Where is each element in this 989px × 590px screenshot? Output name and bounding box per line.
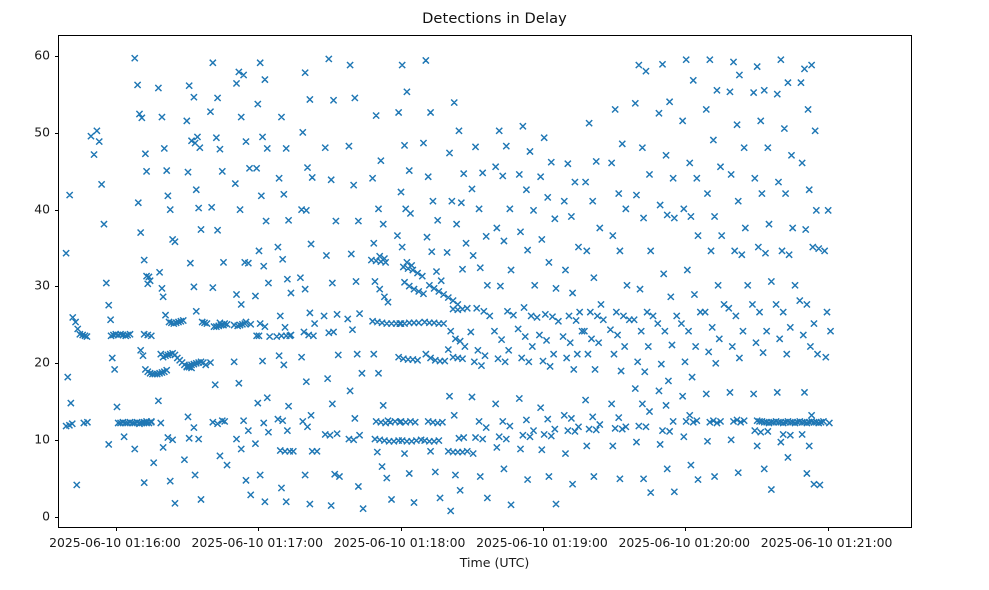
- y-tick-label: 30: [0, 278, 50, 293]
- x-tick-label: 2025-06-10 01:16:00: [49, 535, 181, 550]
- x-tick-mark: [543, 527, 544, 531]
- x-tick-mark: [258, 527, 259, 531]
- y-tick-label: 50: [0, 124, 50, 139]
- y-tick-label: 10: [0, 431, 50, 446]
- y-tick-mark: [55, 517, 59, 518]
- x-tick-label: 2025-06-10 01:19:00: [476, 535, 608, 550]
- y-tick-label: 40: [0, 201, 50, 216]
- y-tick-mark: [55, 133, 59, 134]
- x-tick-label: 2025-06-10 01:18:00: [334, 535, 466, 550]
- x-tick-mark: [401, 527, 402, 531]
- scatter-points-layer: [59, 36, 911, 527]
- y-tick-label: 0: [0, 508, 50, 523]
- y-tick-mark: [55, 286, 59, 287]
- matplotlib-figure: Detections in Delay Bistatic Delay (km) …: [0, 0, 989, 590]
- x-tick-label: 2025-06-10 01:17:00: [191, 535, 323, 550]
- y-tick-label: 20: [0, 355, 50, 370]
- x-tick-mark: [116, 527, 117, 531]
- scatter-series-detections: [63, 55, 834, 514]
- y-tick-mark: [55, 440, 59, 441]
- chart-title: Detections in Delay: [0, 10, 989, 27]
- x-axis-label: Time (UTC): [0, 555, 989, 570]
- y-tick-label: 60: [0, 47, 50, 62]
- x-tick-label: 2025-06-10 01:21:00: [761, 535, 893, 550]
- x-tick-mark: [685, 527, 686, 531]
- x-tick-label: 2025-06-10 01:20:00: [618, 535, 750, 550]
- marker-glyphs: [63, 55, 834, 514]
- plot-area: [58, 35, 912, 528]
- y-tick-mark: [55, 363, 59, 364]
- x-tick-mark: [828, 527, 829, 531]
- y-tick-mark: [55, 56, 59, 57]
- y-tick-mark: [55, 210, 59, 211]
